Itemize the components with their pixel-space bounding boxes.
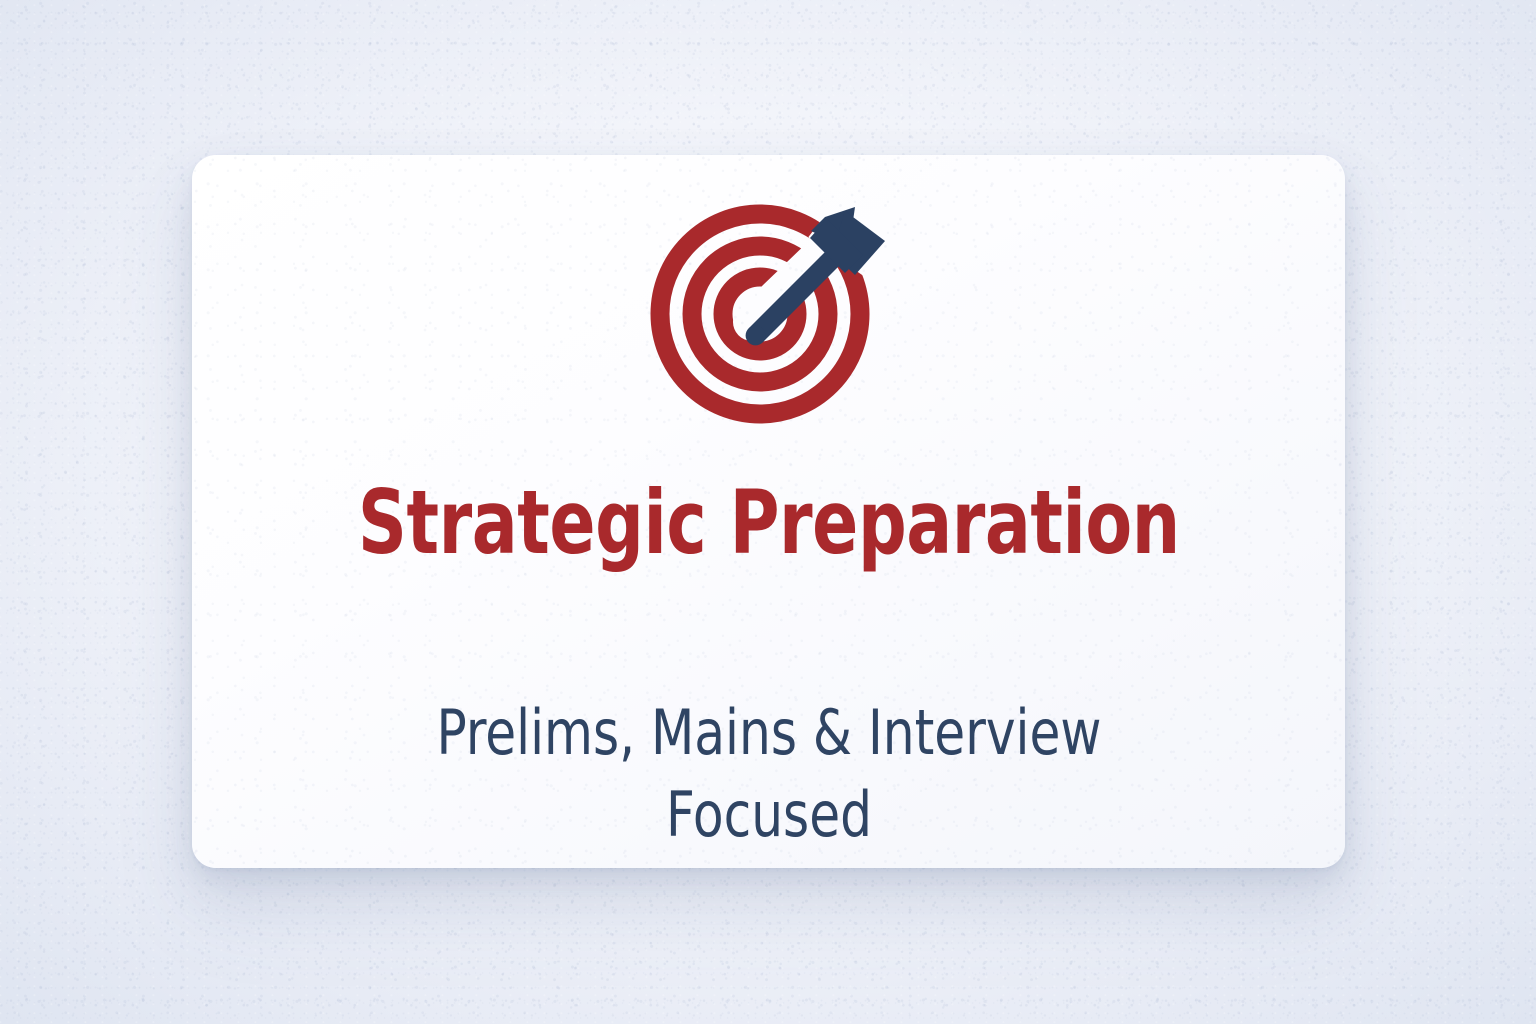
info-card: Strategic Preparation Prelims, Mains & I… bbox=[192, 155, 1345, 868]
page-title: Strategic Preparation bbox=[358, 479, 1180, 567]
target-with-arrow-icon bbox=[649, 201, 889, 425]
page-subtitle: Prelims, Mains & Interview Focused bbox=[413, 692, 1124, 857]
page-root: Strategic Preparation Prelims, Mains & I… bbox=[0, 0, 1536, 1024]
